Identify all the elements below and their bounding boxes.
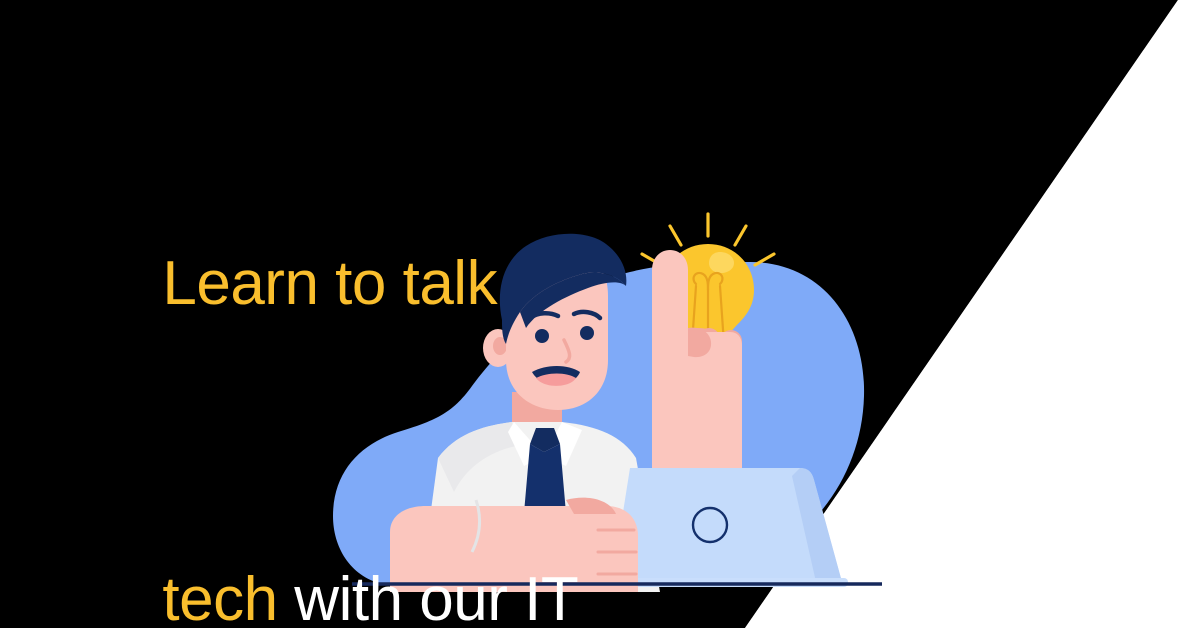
promo-banner: Learn to talk tech with our IT Jargon Bu… — [0, 0, 1200, 628]
headline-line-2: tech with our IT — [62, 505, 682, 628]
page-title: Learn to talk tech with our IT Jargon Bu… — [62, 62, 682, 628]
headline-plain-2: with our IT — [278, 565, 579, 628]
headline-accent-1: Learn to talk — [162, 249, 497, 318]
headline-accent-2: tech — [162, 565, 277, 628]
headline-line-1: Learn to talk — [62, 188, 682, 378]
